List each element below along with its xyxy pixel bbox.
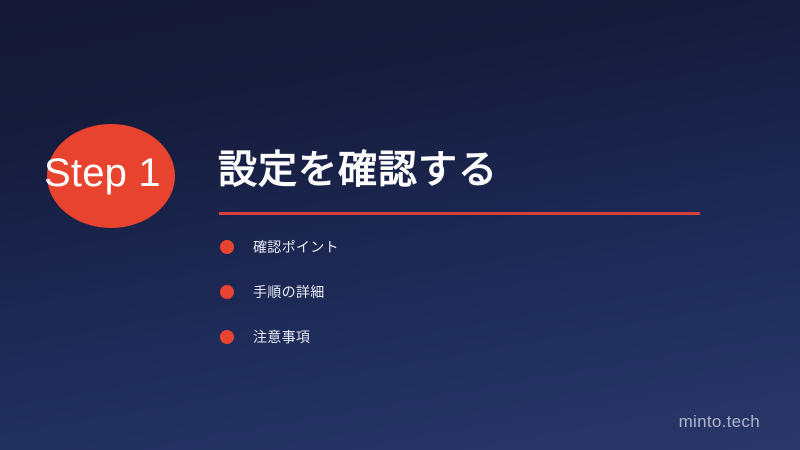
list-item-label: 確認ポイント <box>253 236 339 258</box>
slide-canvas: Step 1 設定を確認する 確認ポイント 手順の詳細 注意事項 minto.t… <box>0 0 800 450</box>
bullet-dot-icon <box>220 240 234 254</box>
list-item: 手順の詳細 <box>219 281 699 326</box>
title-underline-rule <box>219 212 700 215</box>
bullet-dot-icon <box>220 285 234 299</box>
step-label: Step 1 <box>44 148 204 198</box>
list-item-label: 注意事項 <box>253 326 310 348</box>
list-item-label: 手順の詳細 <box>253 281 325 303</box>
page-title: 設定を確認する <box>218 146 498 196</box>
bullet-dot-icon <box>220 330 234 344</box>
list-item: 注意事項 <box>219 326 699 371</box>
watermark-brand: minto.tech <box>679 412 760 432</box>
bullet-list: 確認ポイント 手順の詳細 注意事項 <box>219 236 699 371</box>
list-item: 確認ポイント <box>219 236 699 281</box>
